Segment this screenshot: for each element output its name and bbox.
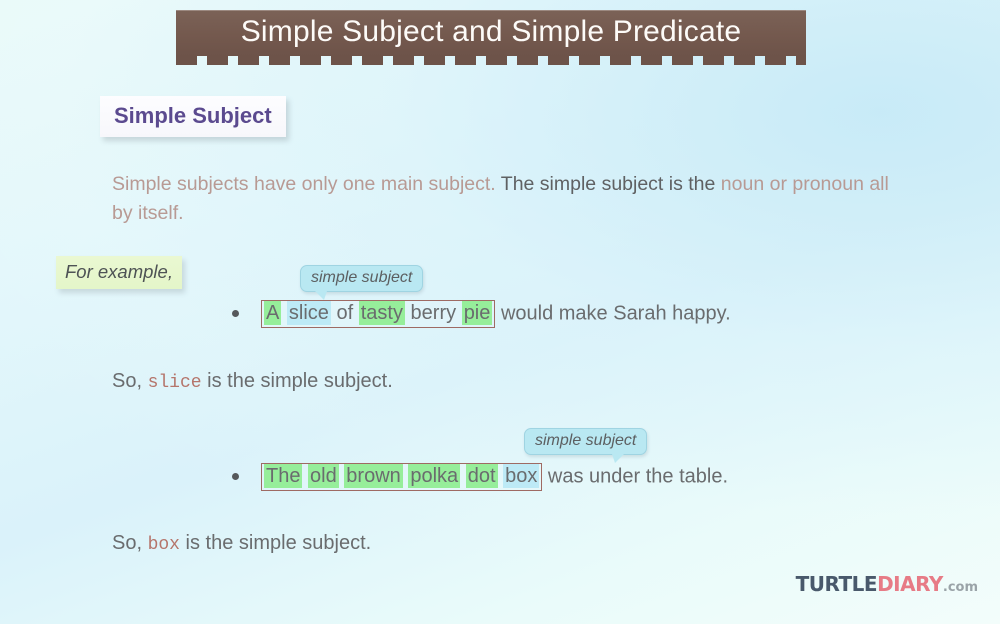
conclusion-line-1: So, slice is the simple subject. (112, 370, 393, 393)
conclusion1-keyword: slice (148, 373, 202, 393)
subject-phrase-box-1: A slice of tasty berry pie (261, 300, 495, 328)
example2-word-4: dot (466, 464, 498, 488)
conclusion-line-2: So, box is the simple subject. (112, 532, 371, 555)
slide-canvas: Simple Subject and Simple Predicate Simp… (0, 0, 1000, 624)
conclusion2-suffix: is the simple subject. (180, 532, 371, 554)
conclusion2-keyword: box (148, 535, 180, 555)
definition-paragraph: Simple subjects have only one main subje… (112, 170, 902, 228)
example2-predicate: was under the table. (542, 466, 728, 488)
example2-word-1: old (308, 464, 339, 488)
callout-simple-subject-2: simple subject (524, 428, 647, 455)
conclusion2-prefix: So, (112, 532, 148, 554)
logo-part-diary: DIARY (877, 572, 943, 596)
logo-part-com: .com (943, 580, 978, 595)
page-title: Simple Subject and Simple Predicate (176, 10, 806, 56)
example-sentence-1: A slice of tasty berry pie would make Sa… (232, 300, 731, 328)
example1-word-0: A (264, 301, 281, 325)
title-banner: Simple Subject and Simple Predicate (176, 10, 806, 65)
callout-pointer-icon-2 (612, 454, 624, 463)
callout-pointer-icon-1 (315, 291, 327, 300)
definition-part-2: The simple subject is the (501, 173, 721, 195)
example1-word-2: of (336, 302, 353, 324)
callout-simple-subject-1: simple subject (300, 265, 423, 292)
bullet-icon-1 (232, 310, 239, 317)
section-heading-simple-subject: Simple Subject (100, 96, 286, 137)
callout-label-1: simple subject (311, 269, 412, 286)
example2-word-5: box (503, 464, 539, 488)
conclusion1-prefix: So, (112, 370, 148, 392)
example1-word-4: berry (411, 302, 457, 324)
example2-word-0: The (264, 464, 302, 488)
example1-word-1: slice (287, 301, 331, 325)
example2-word-3: polka (408, 464, 460, 488)
example-sentence-2: The old brown polka dot box was under th… (232, 463, 728, 491)
example1-word-3: tasty (359, 301, 405, 325)
title-dashed-edge (176, 56, 806, 65)
for-example-label: For example, (56, 256, 182, 289)
definition-part-1: Simple subjects have only one main subje… (112, 173, 501, 195)
turtlediary-logo[interactable]: TURTLEDIARY.com (796, 572, 978, 596)
logo-part-turtle: TURTLE (796, 572, 877, 596)
conclusion1-suffix: is the simple subject. (202, 370, 393, 392)
example1-predicate: would make Sarah happy. (495, 303, 730, 325)
subject-phrase-box-2: The old brown polka dot box (261, 463, 542, 491)
bullet-icon-2 (232, 473, 239, 480)
callout-label-2: simple subject (535, 432, 636, 449)
example2-word-2: brown (344, 464, 402, 488)
example1-word-5: pie (462, 301, 493, 325)
